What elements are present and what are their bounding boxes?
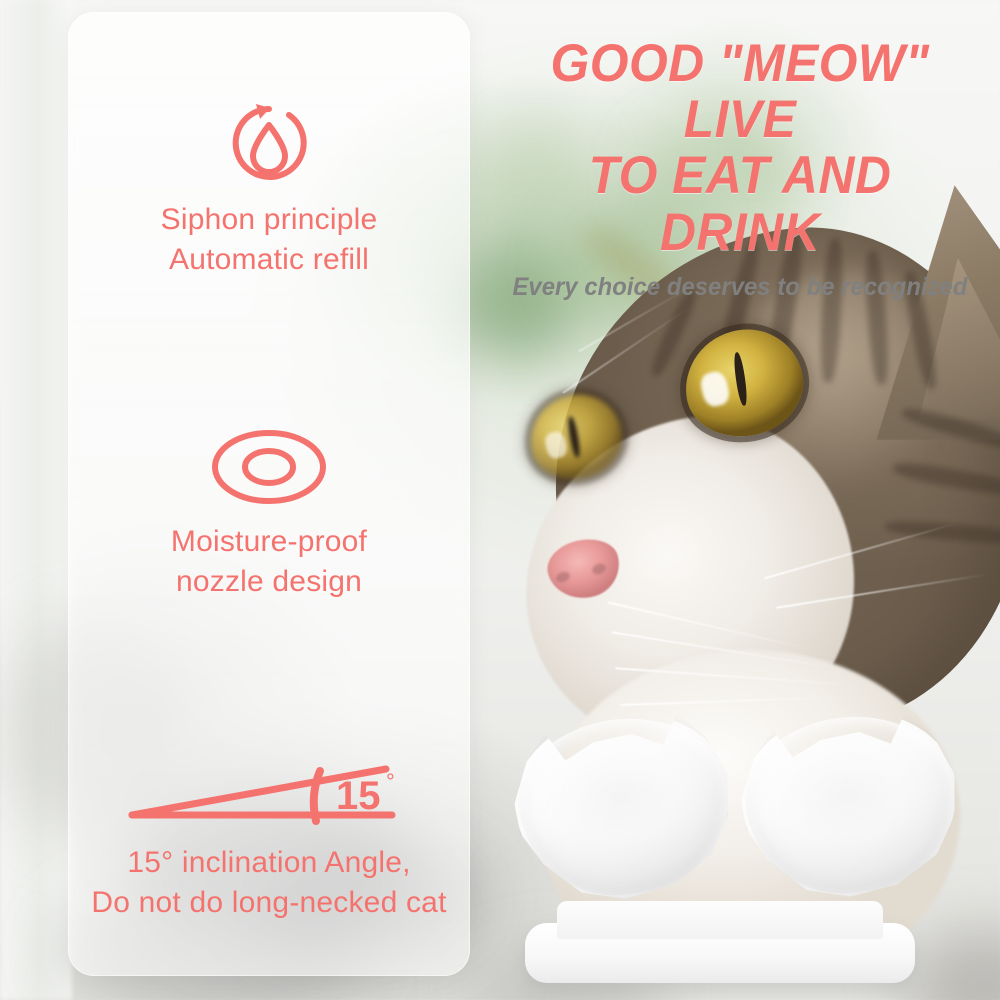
- advertisement-banner: GOOD "MEOW" LIVE TO EAT AND DRINK Every …: [0, 0, 1000, 1000]
- headline-block: GOOD "MEOW" LIVE TO EAT AND DRINK Every …: [490, 36, 990, 302]
- nozzle-rings-icon: [68, 412, 470, 522]
- feature-angle: 15 ° 15° inclination Angle, Do not do lo…: [68, 747, 470, 922]
- headline-subtitle: Every choice deserves to be recognized: [503, 273, 978, 302]
- features-panel: Siphon principle Automatic refill Moistu…: [68, 12, 470, 976]
- inclination-angle-icon: 15 °: [68, 747, 470, 843]
- feature-nozzle-label: Moisture-proof nozzle design: [68, 522, 470, 601]
- degree-symbol-label: °: [386, 769, 395, 794]
- feature-siphon-label: Siphon principle Automatic refill: [68, 200, 470, 279]
- headline-line-2: TO EAT AND DRINK: [505, 148, 975, 260]
- feature-siphon: Siphon principle Automatic refill: [68, 90, 470, 279]
- angle-value-label: 15: [336, 774, 381, 818]
- water-drop-refill-icon: [68, 90, 470, 200]
- feature-angle-label: 15° inclination Angle, Do not do long-ne…: [68, 843, 470, 922]
- headline-line-1: GOOD "MEOW" LIVE: [505, 36, 975, 148]
- product-image: [495, 705, 955, 1000]
- bowl-stand-top: [557, 901, 883, 939]
- background-light-band: [0, 0, 72, 1000]
- feature-nozzle: Moisture-proof nozzle design: [68, 412, 470, 601]
